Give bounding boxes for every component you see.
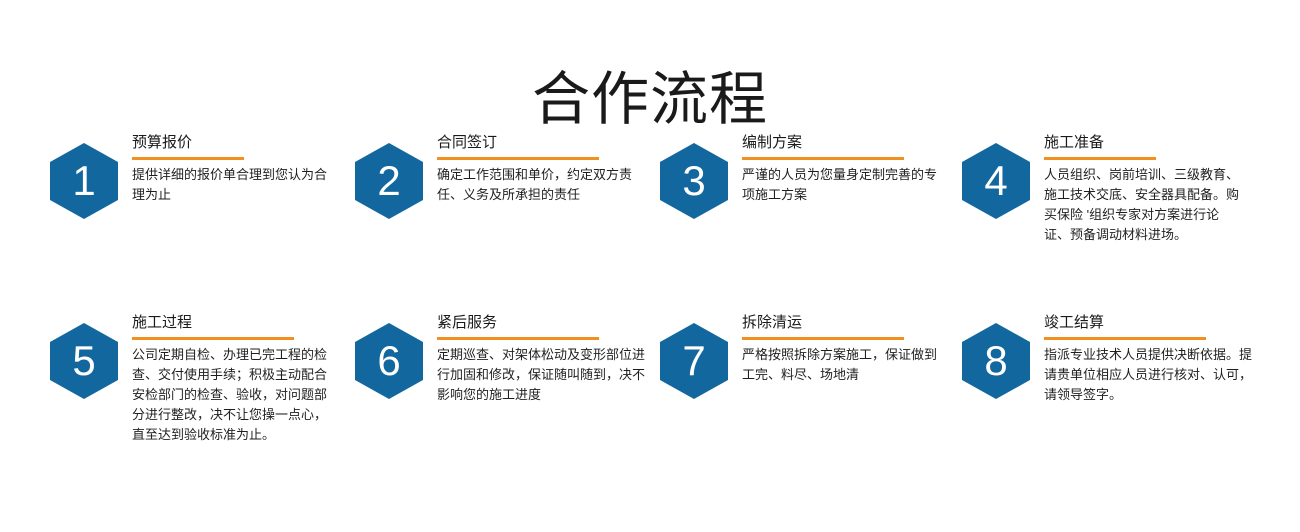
step-description: 确定工作范围和单价，约定双方责任、义务及所承担的责任 (437, 165, 649, 205)
step-text-block: 合同签订 确定工作范围和单价，约定双方责任、义务及所承担的责任 (437, 132, 652, 205)
step-text-block: 预算报价 提供详细的报价单合理到您认为合理为止 (132, 132, 347, 205)
process-steps-grid: 1 预算报价 提供详细的报价单合理到您认为合理为止 2 合同签订 确定工作范围和… (0, 132, 1300, 492)
step-row-1: 1 预算报价 提供详细的报价单合理到您认为合理为止 2 合同签订 确定工作范围和… (0, 132, 1300, 312)
step-description: 指派专业技术人员提供决断依据。提请贵单位相应人员进行核对、认可，请领导签字。 (1044, 345, 1259, 405)
step-title: 施工准备 (1044, 132, 1259, 156)
title-underline (1044, 157, 1156, 160)
step-number: 2 (355, 143, 423, 219)
step-description: 严谨的人员为您量身定制完善的专项施工方案 (742, 165, 938, 205)
step-number: 1 (50, 143, 118, 219)
step-title: 竣工结算 (1044, 312, 1259, 336)
step-number: 4 (962, 143, 1030, 219)
step-title: 拆除清运 (742, 312, 957, 336)
step-item-6: 6 紧后服务 定期巡查、对架体松动及变形部位进行加固和修改，保证随叫随到，决不影… (355, 312, 655, 492)
step-title: 预算报价 (132, 132, 347, 156)
step-description: 公司定期自检、办理已完工程的检查、交付使用手续；积极主动配合安检部门的检查、验收… (132, 345, 332, 445)
step-row-2: 5 施工过程 公司定期自检、办理已完工程的检查、交付使用手续；积极主动配合安检部… (0, 312, 1300, 492)
title-underline (742, 157, 904, 160)
step-description: 严格按照拆除方案施工，保证做到工完、料尽、场地清 (742, 345, 947, 385)
step-text-block: 施工准备 人员组织、岗前培训、三级教育、施工技术交底、安全器具配备。购买保险 '… (1044, 132, 1259, 245)
step-description: 人员组织、岗前培训、三级教育、施工技术交底、安全器具配备。购买保险 '组织专家对… (1044, 165, 1240, 245)
title-underline (437, 337, 599, 340)
step-description: 提供详细的报价单合理到您认为合理为止 (132, 165, 332, 205)
step-number: 6 (355, 323, 423, 399)
step-item-8: 8 竣工结算 指派专业技术人员提供决断依据。提请贵单位相应人员进行核对、认可，请… (962, 312, 1262, 492)
step-title: 合同签订 (437, 132, 652, 156)
step-text-block: 施工过程 公司定期自检、办理已完工程的检查、交付使用手续；积极主动配合安检部门的… (132, 312, 347, 445)
step-title: 编制方案 (742, 132, 957, 156)
step-item-7: 7 拆除清运 严格按照拆除方案施工，保证做到工完、料尽、场地清 (660, 312, 960, 492)
step-item-4: 4 施工准备 人员组织、岗前培训、三级教育、施工技术交底、安全器具配备。购买保险… (962, 132, 1262, 312)
page-title: 合作流程 (0, 65, 1300, 135)
step-item-1: 1 预算报价 提供详细的报价单合理到您认为合理为止 (50, 132, 350, 312)
title-underline (1044, 337, 1206, 340)
title-underline (742, 337, 904, 340)
step-text-block: 编制方案 严谨的人员为您量身定制完善的专项施工方案 (742, 132, 957, 205)
step-item-5: 5 施工过程 公司定期自检、办理已完工程的检查、交付使用手续；积极主动配合安检部… (50, 312, 350, 492)
title-underline (132, 337, 294, 340)
step-text-block: 竣工结算 指派专业技术人员提供决断依据。提请贵单位相应人员进行核对、认可，请领导… (1044, 312, 1259, 405)
step-description: 定期巡查、对架体松动及变形部位进行加固和修改，保证随叫随到，决不影响您的施工进度 (437, 345, 652, 405)
step-number: 5 (50, 323, 118, 399)
step-item-3: 3 编制方案 严谨的人员为您量身定制完善的专项施工方案 (660, 132, 960, 312)
step-text-block: 拆除清运 严格按照拆除方案施工，保证做到工完、料尽、场地清 (742, 312, 957, 385)
step-title: 紧后服务 (437, 312, 652, 336)
title-underline (132, 157, 244, 160)
step-title: 施工过程 (132, 312, 347, 336)
step-number: 3 (660, 143, 728, 219)
step-number: 8 (962, 323, 1030, 399)
step-item-2: 2 合同签订 确定工作范围和单价，约定双方责任、义务及所承担的责任 (355, 132, 655, 312)
step-number: 7 (660, 323, 728, 399)
step-text-block: 紧后服务 定期巡查、对架体松动及变形部位进行加固和修改，保证随叫随到，决不影响您… (437, 312, 652, 405)
title-underline (437, 157, 599, 160)
